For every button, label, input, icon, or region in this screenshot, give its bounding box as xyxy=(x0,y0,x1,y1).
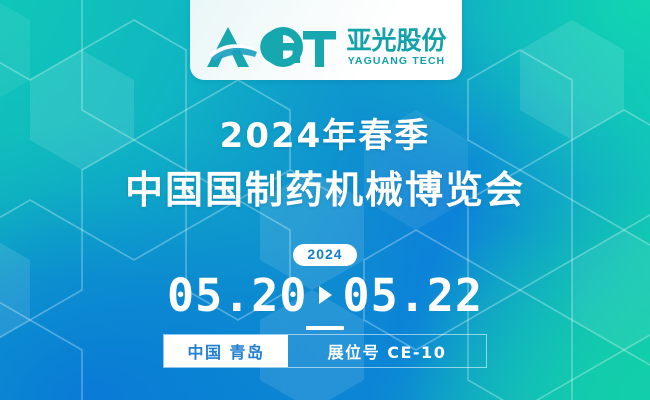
date-range: 05.20 05.22 xyxy=(0,272,650,319)
logo-panel: 亚光股份 YAGUANG TECH xyxy=(190,0,462,80)
agt-swoosh-logomark xyxy=(205,25,337,69)
date-underline-rule xyxy=(306,326,344,330)
year-badge: 2024 xyxy=(293,244,356,266)
date-start: 05.20 xyxy=(167,272,307,319)
date-end: 05.22 xyxy=(343,272,483,319)
event-date-block: 2024 05.20 05.22 xyxy=(0,244,650,330)
event-banner: 亚光股份 YAGUANG TECH 2024年春季 中国国制药机械博览会 202… xyxy=(0,0,650,400)
location-label: 中国 青岛 xyxy=(164,335,288,367)
headline-block: 2024年春季 中国国制药机械博览会 xyxy=(0,117,650,213)
logo-company-name-en: YAGUANG TECH xyxy=(348,56,445,67)
booth-number-label: 展位号 CE-10 xyxy=(288,335,486,367)
arrow-right-triangle-icon xyxy=(319,286,332,304)
headline-line-2: 中国国制药机械博览会 xyxy=(0,169,650,213)
logo-company-name-cn: 亚光股份 xyxy=(346,28,446,53)
headline-line-1: 2024年春季 xyxy=(0,117,650,156)
logo-lockup: 亚光股份 YAGUANG TECH xyxy=(205,25,446,69)
footer-info-bar: 中国 青岛 展位号 CE-10 xyxy=(163,334,487,368)
logo-company-text: 亚光股份 YAGUANG TECH xyxy=(346,28,446,67)
